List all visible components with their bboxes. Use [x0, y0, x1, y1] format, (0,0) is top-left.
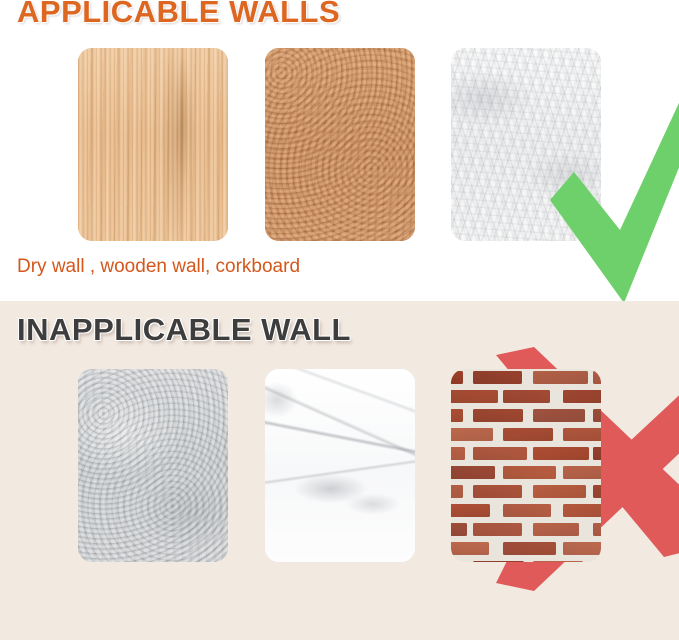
page-title-inapplicable: INAPPLICABLE WALL: [17, 312, 351, 348]
swatch-concrete-panel: [78, 369, 228, 562]
section-applicable-walls: APPLICABLE WALLS Dry wall , wooden wall,…: [0, 0, 679, 301]
brick-texture: [451, 369, 601, 562]
swatch-wood-panel: [78, 48, 228, 241]
concrete-texture: [78, 369, 228, 562]
cork-texture: [265, 48, 415, 241]
swatch-brick-panel: [451, 369, 601, 562]
marble-texture: [265, 369, 415, 562]
wood-texture: [78, 48, 228, 241]
page-title-applicable: APPLICABLE WALLS: [17, 0, 340, 30]
drywall-texture: [451, 48, 601, 241]
caption-applicable-walls: Dry wall , wooden wall, corkboard: [17, 255, 300, 279]
swatch-corkboard-panel: [265, 48, 415, 241]
wall-compatibility-infographic: APPLICABLE WALLS Dry wall , wooden wall,…: [0, 0, 679, 640]
swatch-ceramic-marble-panel: [265, 369, 415, 562]
swatch-drywall-panel: [451, 48, 601, 241]
